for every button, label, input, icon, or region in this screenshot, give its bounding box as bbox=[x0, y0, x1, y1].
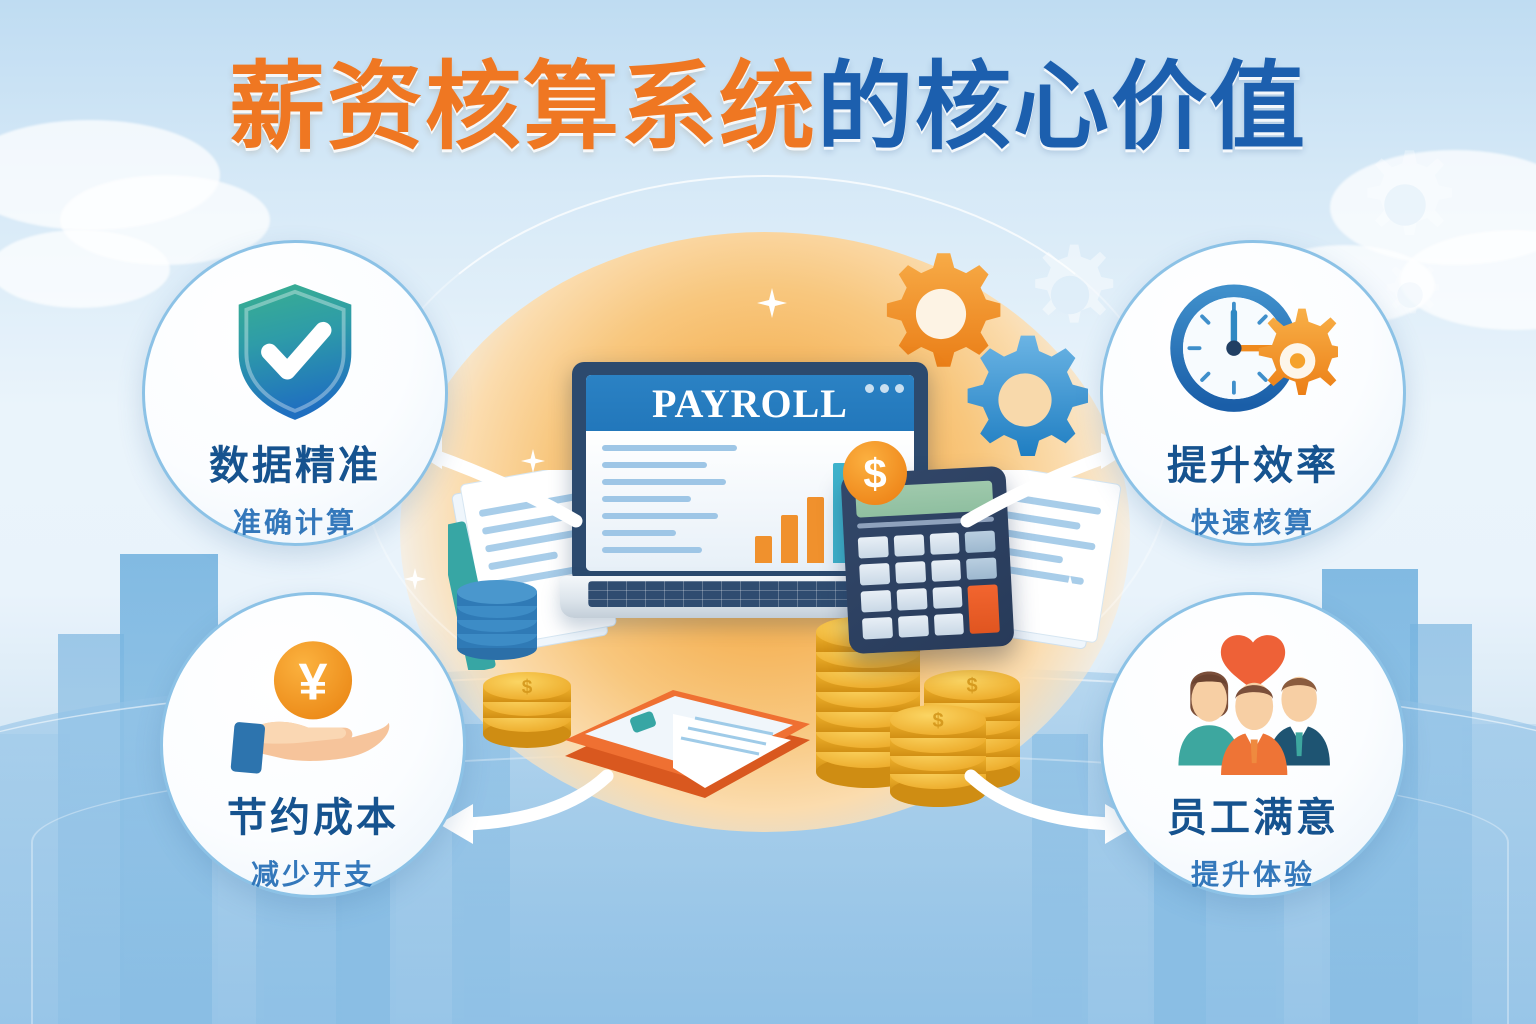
calc-key bbox=[932, 586, 963, 609]
laptop-keyboard bbox=[588, 581, 888, 607]
screen-titlebar: PAYROLL bbox=[586, 375, 914, 431]
bubble-efficiency[interactable]: 提升效率 快速核算 bbox=[1100, 240, 1406, 546]
svg-text:$: $ bbox=[932, 710, 943, 732]
yuan-symbol: ¥ bbox=[299, 653, 328, 711]
calc-key bbox=[898, 615, 929, 638]
shield-check-icon-wrap bbox=[231, 277, 359, 427]
screen-text-lines bbox=[602, 445, 737, 564]
window-dots-icon bbox=[865, 384, 904, 393]
sparkle-icon-4 bbox=[1058, 575, 1082, 599]
calc-key bbox=[858, 536, 889, 559]
bubble-satisfaction-subtitle: 提升体验 bbox=[1191, 853, 1315, 893]
calc-key-equals bbox=[968, 584, 1000, 633]
bubble-efficiency-subtitle: 快速核算 bbox=[1191, 501, 1315, 541]
calc-key bbox=[933, 613, 964, 636]
shield-check-icon bbox=[231, 281, 359, 423]
people-heart-icon bbox=[1164, 633, 1342, 775]
payroll-header-text: PAYROLL bbox=[652, 380, 848, 427]
calc-key bbox=[931, 559, 962, 582]
clock-gear-icon-wrap bbox=[1168, 277, 1338, 427]
dollar-badge-icon: $ bbox=[840, 438, 910, 508]
bar-1 bbox=[755, 536, 772, 564]
clock-gear-icon bbox=[1168, 282, 1338, 422]
calculator-keypad bbox=[858, 530, 1000, 639]
sparkle-icon-3 bbox=[404, 568, 426, 590]
calc-key-function bbox=[966, 557, 997, 580]
calc-key bbox=[896, 588, 927, 611]
calc-key bbox=[929, 532, 960, 555]
bubble-cost[interactable]: ¥ 节约成本 减少开支 bbox=[160, 592, 466, 898]
calc-key bbox=[861, 590, 892, 613]
sparkle-icon-1 bbox=[757, 288, 787, 318]
page-title: 薪资核算系统的核心价值 bbox=[0, 58, 1536, 159]
hand-yuan-coin-icon-wrap: ¥ bbox=[229, 629, 397, 779]
bubble-cost-title: 节约成本 bbox=[227, 785, 399, 843]
bar-3 bbox=[807, 497, 824, 563]
blue-coin-stack bbox=[452, 548, 542, 668]
bar-2 bbox=[781, 515, 798, 563]
calc-key bbox=[893, 534, 924, 557]
svg-text:$: $ bbox=[522, 677, 533, 698]
bubble-accuracy-title: 数据精准 bbox=[209, 433, 381, 491]
cloud-6 bbox=[0, 230, 170, 308]
title-orange-part: 薪资核算系统 bbox=[229, 54, 817, 161]
calc-key bbox=[895, 561, 926, 584]
ghost-gear-icon-1 bbox=[1340, 140, 1470, 270]
bubble-accuracy-subtitle: 准确计算 bbox=[233, 501, 357, 541]
bubble-satisfaction[interactable]: 员工满意 提升体验 bbox=[1100, 592, 1406, 898]
bubble-accuracy[interactable]: 数据精准 准确计算 bbox=[142, 240, 448, 546]
calc-key bbox=[859, 563, 890, 586]
calc-key bbox=[862, 617, 893, 640]
infographic-canvas: 薪资核算系统的核心价值 bbox=[0, 0, 1536, 1024]
hand-yuan-coin-icon: ¥ bbox=[229, 633, 397, 775]
bubble-cost-subtitle: 减少开支 bbox=[251, 853, 375, 893]
bubble-efficiency-title: 提升效率 bbox=[1167, 433, 1339, 491]
title-blue-part: 的核心价值 bbox=[817, 54, 1307, 161]
svg-text:$: $ bbox=[966, 675, 977, 697]
people-heart-icon-wrap bbox=[1164, 629, 1342, 779]
bubble-satisfaction-title: 员工满意 bbox=[1167, 785, 1339, 843]
svg-text:$: $ bbox=[863, 450, 886, 497]
